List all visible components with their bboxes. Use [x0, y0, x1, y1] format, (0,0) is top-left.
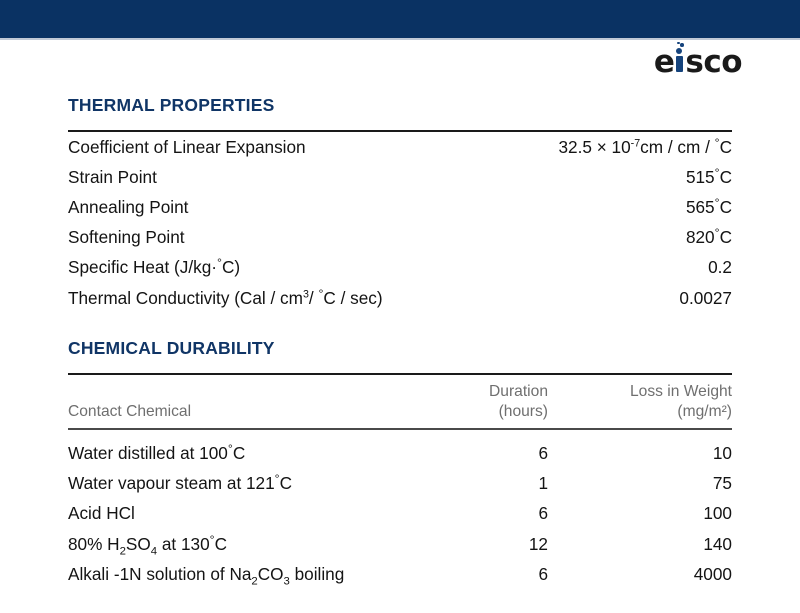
thermal-property-value: 820°C [400, 223, 732, 253]
thermal-properties-table: Coefficient of Linear Expansion 32.5 × 1… [68, 132, 732, 313]
eisco-logo: e sco [654, 44, 742, 78]
table-row: Annealing Point 565°C [68, 192, 732, 222]
chemical-table-body: Water distilled at 100°C 6 10 Water vapo… [68, 439, 732, 590]
chemical-duration: 12 [484, 529, 548, 559]
chemical-duration: 6 [484, 559, 548, 589]
logo-letters-sco: sco [685, 47, 742, 78]
column-header-duration: Duration (hours) [484, 375, 548, 428]
chemical-name: Water distilled at 100°C [68, 439, 484, 469]
logo-i-stem [676, 56, 683, 72]
logo-bubble-medium-icon [680, 43, 684, 47]
thermal-property-label: Softening Point [68, 223, 400, 253]
thermal-table-body: Coefficient of Linear Expansion 32.5 × 1… [68, 132, 732, 313]
chemical-section-title: CHEMICAL DURABILITY [68, 338, 732, 359]
table-row: Coefficient of Linear Expansion 32.5 × 1… [68, 132, 732, 162]
thermal-property-label: Thermal Conductivity (Cal / cm3/ °C / se… [68, 283, 400, 313]
header-band [0, 0, 800, 38]
table-row: Alkali -1N solution of Na2CO3 boiling 6 … [68, 559, 732, 589]
thermal-title-gap [68, 116, 732, 130]
thermal-property-label: Annealing Point [68, 192, 400, 222]
thermal-property-value: 0.2 [400, 253, 732, 283]
table-row: 80% H2SO4 at 130°C 12 140 [68, 529, 732, 559]
chemical-loss: 10 [548, 439, 732, 469]
chemical-table-head: Contact Chemical Duration (hours) Loss i… [68, 375, 732, 428]
column-header-duration-line1: Duration [489, 383, 548, 400]
chemical-durability-table: Contact Chemical Duration (hours) Loss i… [68, 375, 732, 428]
chemical-loss: 4000 [548, 559, 732, 589]
table-header-row: Contact Chemical Duration (hours) Loss i… [68, 375, 732, 428]
column-header-loss-in-weight: Loss in Weight (mg/m²) [548, 375, 732, 428]
logo-letter-e: e [654, 47, 675, 78]
thermal-property-value: 32.5 × 10-7cm / cm / °C [400, 132, 732, 162]
thermal-property-label: Strain Point [68, 162, 400, 192]
column-header-loss-line2: (mg/m²) [677, 403, 732, 420]
table-row: Thermal Conductivity (Cal / cm3/ °C / se… [68, 283, 732, 313]
table-row: Water vapour steam at 121°C 1 75 [68, 469, 732, 499]
chemical-loss: 75 [548, 469, 732, 499]
chemical-loss: 140 [548, 529, 732, 559]
column-header-loss-line1: Loss in Weight [630, 383, 732, 400]
chemical-durability-section: CHEMICAL DURABILITY Contact Chemical Dur… [68, 338, 732, 590]
thermal-property-value: 565°C [400, 192, 732, 222]
thermal-property-value: 0.0027 [400, 283, 732, 313]
header-band-shadow [0, 38, 800, 40]
chemical-duration: 1 [484, 469, 548, 499]
chemical-name: Alkali -1N solution of Na2CO3 boiling [68, 559, 484, 589]
column-header-duration-line2: (hours) [499, 403, 548, 420]
logo-wordmark: e sco [654, 47, 742, 78]
thermal-property-label: Specific Heat (J/kg·°C) [68, 253, 400, 283]
column-header-contact-chemical: Contact Chemical [68, 375, 484, 428]
logo-bubble-large-icon [676, 48, 682, 54]
thermal-section-title: THERMAL PROPERTIES [68, 95, 732, 116]
table-row: Specific Heat (J/kg·°C) 0.2 [68, 253, 732, 283]
chemical-name: Acid HCl [68, 499, 484, 529]
chemical-loss: 100 [548, 499, 732, 529]
datasheet-page: e sco THERMAL PROPERTIES Coefficient of … [0, 0, 800, 613]
thermal-property-label: Coefficient of Linear Expansion [68, 132, 400, 162]
chemical-durability-body-table: Water distilled at 100°C 6 10 Water vapo… [68, 439, 732, 590]
table-row: Softening Point 820°C [68, 223, 732, 253]
chemical-name: Water vapour steam at 121°C [68, 469, 484, 499]
logo-bubble-small-icon [677, 42, 679, 44]
thermal-properties-section: THERMAL PROPERTIES Coefficient of Linear… [68, 95, 732, 313]
chemical-name: 80% H2SO4 at 130°C [68, 529, 484, 559]
chemical-title-gap [68, 359, 732, 373]
table-row: Strain Point 515°C [68, 162, 732, 192]
thermal-property-value: 515°C [400, 162, 732, 192]
table-row: Water distilled at 100°C 6 10 [68, 439, 732, 469]
chemical-duration: 6 [484, 439, 548, 469]
chemical-header-gap [68, 430, 732, 439]
table-row: Acid HCl 6 100 [68, 499, 732, 529]
chemical-duration: 6 [484, 499, 548, 529]
